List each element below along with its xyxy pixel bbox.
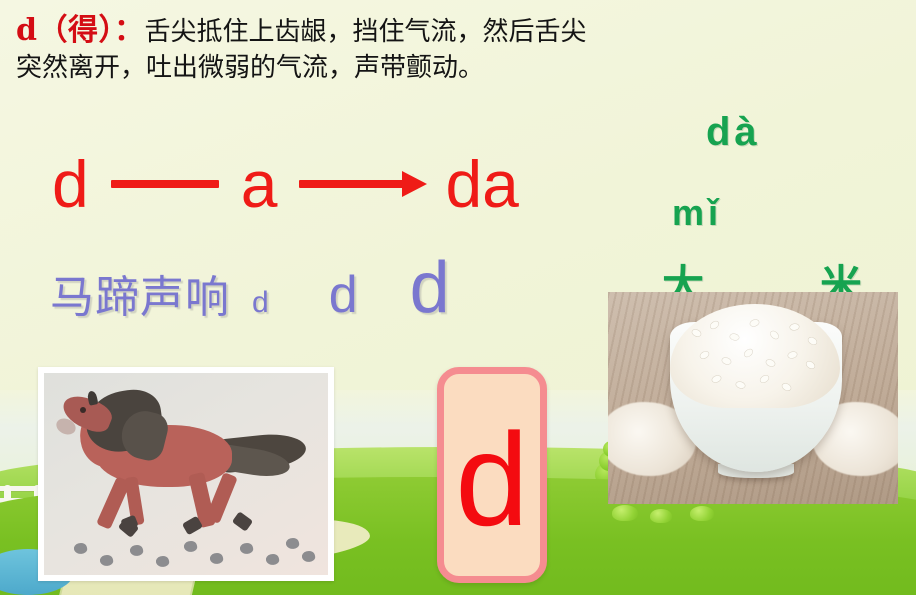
formula-initial: d	[52, 151, 89, 217]
horse-eye	[80, 407, 86, 413]
explanation-text-1: 舌尖抵住上齿龈，挡住气流，然后舌尖	[144, 17, 586, 47]
arrow-shaft	[299, 180, 407, 188]
sound-letter-medium: d	[329, 269, 358, 321]
hoofprint	[99, 554, 114, 568]
rice-grain	[759, 374, 770, 384]
hoofprint	[209, 552, 224, 566]
hoofprint	[301, 550, 316, 564]
hoofprint	[265, 553, 280, 567]
pronunciation-explanation: d（得）：舌尖抵住上齿龈，挡住气流，然后舌尖 突然离开，吐出微弱的气流，声带颤动…	[16, 12, 900, 86]
explanation-line-1: d（得）：舌尖抵住上齿龈，挡住气流，然后舌尖	[16, 12, 900, 50]
pinyin-blending-formula: d a da	[52, 146, 519, 222]
rice-grain	[807, 336, 818, 346]
hoofbeat-phrase: 马蹄声响	[50, 261, 230, 325]
rice-grain	[735, 381, 745, 389]
hoofprint	[73, 542, 88, 556]
rice-grain	[769, 330, 780, 341]
card-letter: d	[455, 426, 528, 534]
rice-grain	[805, 360, 816, 370]
rice-grain	[721, 357, 731, 365]
rice-grain	[765, 359, 776, 368]
formula-dash	[111, 180, 219, 188]
pinyin-da: dà	[706, 110, 761, 155]
hoofprint	[183, 540, 198, 554]
pinyin-mi: mǐ	[672, 192, 722, 234]
formula-arrow-icon	[299, 180, 427, 188]
rice-grain	[787, 351, 797, 359]
rice-image	[608, 292, 898, 504]
rice-grain	[691, 328, 702, 337]
arrow-head	[402, 171, 427, 197]
phoneme-label: d（得）：	[16, 13, 144, 48]
bush-icon	[690, 506, 714, 521]
hoofprint	[285, 537, 300, 551]
rice-grain	[709, 320, 720, 330]
hoofprint	[239, 542, 254, 556]
rice-grain	[790, 323, 800, 330]
bush-icon	[612, 505, 638, 521]
slide-canvas: d（得）：舌尖抵住上齿龈，挡住气流，然后舌尖 突然离开，吐出微弱的气流，声带颤动…	[0, 0, 916, 595]
rice-grain	[729, 333, 739, 341]
horse-ear	[87, 390, 99, 406]
hoofbeat-sound-row: 马蹄声响 d d d	[50, 252, 450, 325]
formula-final: a	[241, 151, 278, 217]
letter-card-d[interactable]: d	[437, 367, 547, 583]
horse-image	[38, 367, 334, 581]
hoofprint	[155, 555, 170, 569]
sound-letter-large: d	[410, 252, 450, 324]
horse-illustration	[44, 373, 328, 575]
horse-hoof	[232, 511, 253, 532]
formula-result: da	[445, 151, 518, 217]
rice-grain	[781, 382, 792, 391]
bush-icon	[650, 509, 672, 523]
explanation-text-2: 突然离开，吐出微弱的气流，声带颤动。	[16, 52, 900, 85]
rice-grain	[749, 319, 759, 327]
rice-grain	[711, 375, 722, 384]
sound-letter-small: d	[252, 288, 269, 318]
hoofprint	[129, 544, 144, 558]
rice-grain	[699, 350, 710, 360]
rice-grain	[743, 348, 754, 358]
